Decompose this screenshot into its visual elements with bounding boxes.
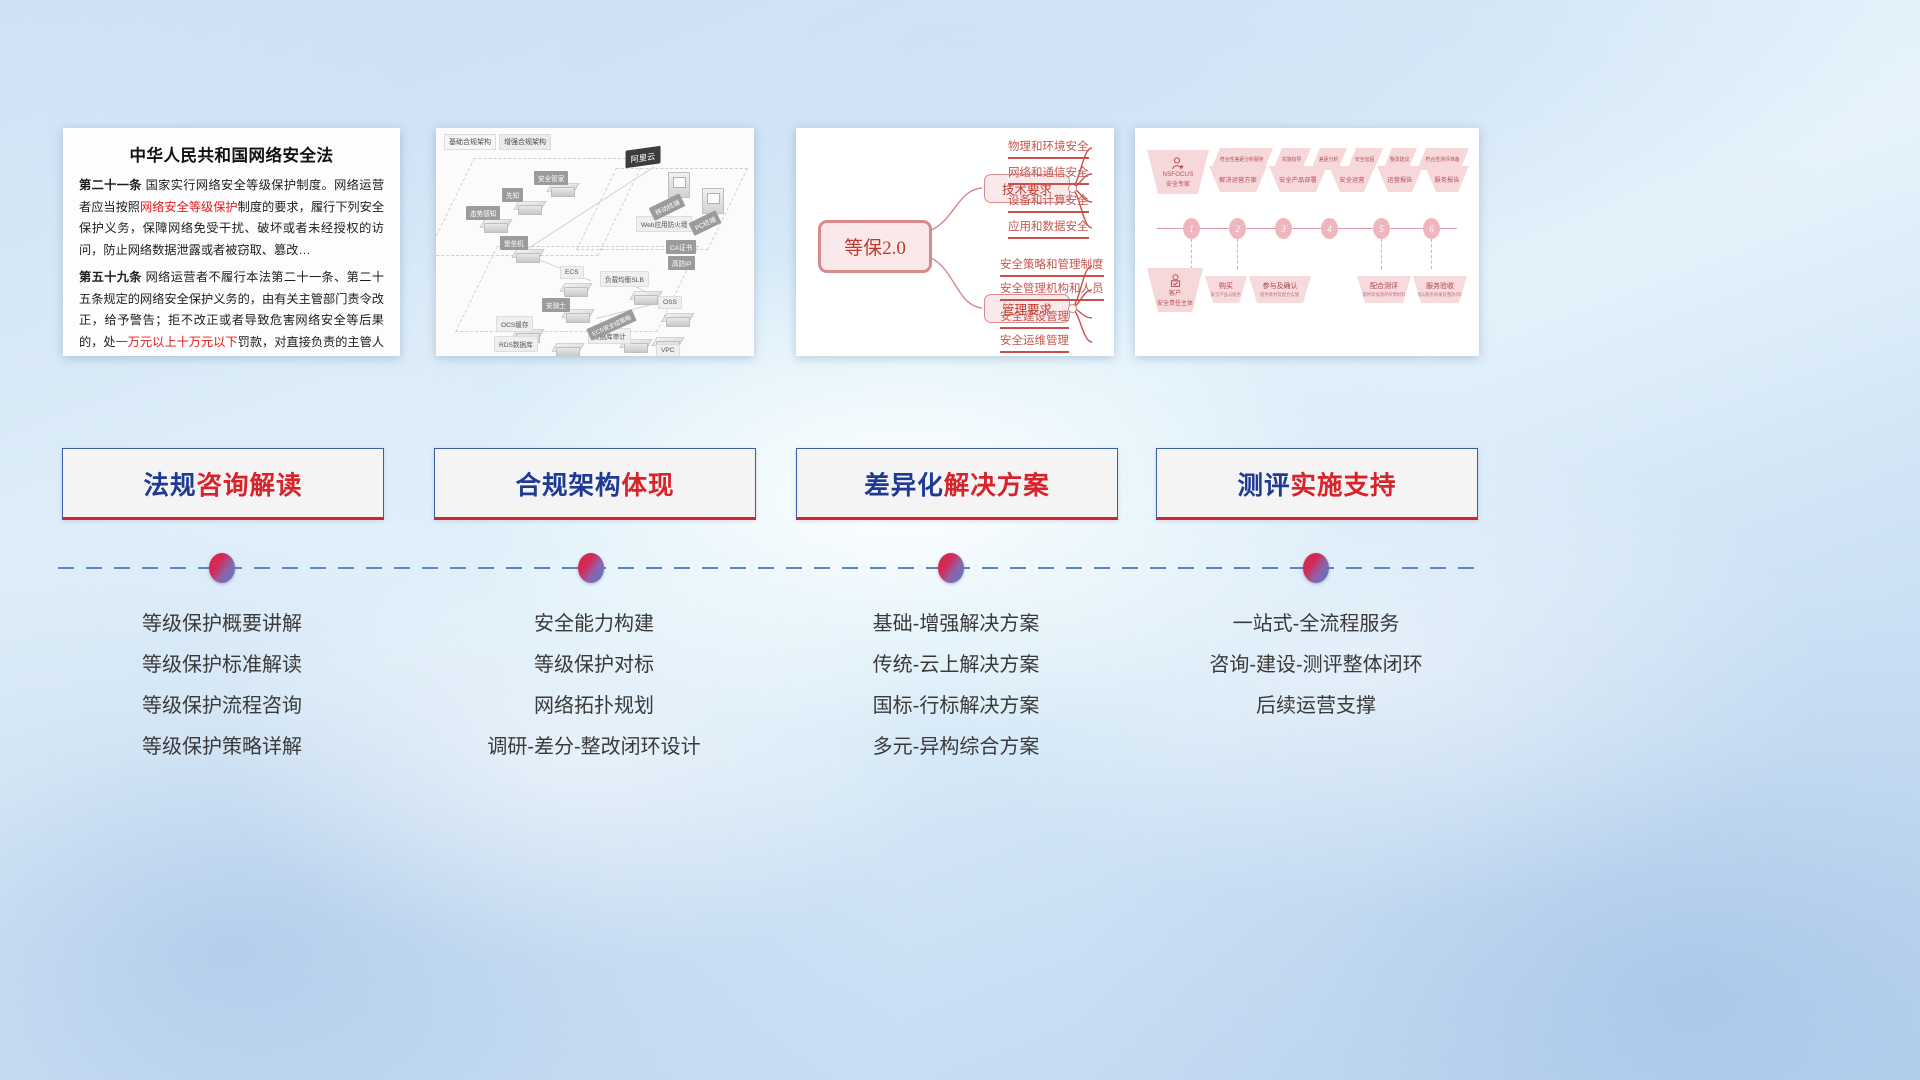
customer-person-icon <box>1169 274 1182 287</box>
arch-label-aliyun: 阿里云 <box>626 146 661 168</box>
nsfocus-connector-6 <box>1431 239 1433 269</box>
bullet-4-2: 咨询-建设-测评整体闭环 <box>1156 655 1476 675</box>
bullet-column-1: 等级保护概要讲解 等级保护标准解读 等级保护流程咨询 等级保护策略详解 <box>62 614 382 778</box>
headline-3-blue: 差异化 <box>864 472 944 500</box>
headline-4-blue: 测评 <box>1237 472 1290 500</box>
nsfocus-bottom-step-1-title: 购买 <box>1219 281 1233 291</box>
arch-node-oss <box>664 310 690 327</box>
nsfocus-chevron-1-label: 解决运营方案 <box>1219 175 1257 184</box>
mindmap-leaf-operation-mgmt: 安全运维管理 <box>1000 332 1069 353</box>
headline-1-text: 法规咨询解读 <box>143 465 302 502</box>
nsfocus-connector-5 <box>1381 239 1383 269</box>
bullet-column-3: 基础-增强解决方案 传统-云上解决方案 国标-行标解决方案 多元-异构综合方案 <box>796 614 1116 778</box>
bullet-3-2: 传统-云上解决方案 <box>796 655 1116 675</box>
nsfocus-chevron-5: 服务报告 <box>1425 166 1469 192</box>
headline-1-red: 咨询解读 <box>197 472 303 500</box>
nsfocus-bottom-step-2: 参与及确认 提供素材及配合实施 <box>1249 276 1311 303</box>
arch-label-ca: CA证书 <box>666 240 696 254</box>
law-article-21-highlight: 网络安全等级保护 <box>140 200 238 214</box>
expert-person-icon <box>1171 157 1185 170</box>
headline-box-2[interactable]: 合规架构体现 <box>434 448 756 520</box>
timeline-dot-2[interactable] <box>578 553 604 583</box>
arch-tabs[interactable]: 基础合规架构 增强合规架构 <box>444 134 551 150</box>
bullet-1-3: 等级保护流程咨询 <box>62 696 382 716</box>
mindmap-leaf-policy-system: 安全策略和管理制度 <box>1000 256 1104 277</box>
mindmap-leaf-network-comm: 网络和通信安全 <box>1008 164 1089 185</box>
headline-box-4[interactable]: 测评实施支持 <box>1156 448 1478 520</box>
nsfocus-chevron-1: 解决运营方案 <box>1209 166 1267 192</box>
headline-box-1[interactable]: 法规咨询解读 <box>62 448 384 520</box>
nsfocus-brand: NSFOCUS <box>1163 171 1194 178</box>
bullet-column-4: 一站式-全流程服务 咨询-建设-测评整体闭环 后续运营支撑 <box>1156 614 1476 737</box>
bullet-3-3: 国标-行标解决方案 <box>796 696 1116 716</box>
arch-label-slb: 负载均衡SLB <box>600 271 649 287</box>
nsfocus-bottom-step-3-sub: 提供等保测评所需材料 <box>1362 291 1405 297</box>
arch-label-anqishi: 安骑士 <box>542 298 570 312</box>
nsfocus-step-node-6: 6 <box>1423 218 1440 239</box>
mindmap-leaf-construction-mgmt: 安全建设管理 <box>1000 308 1069 329</box>
nsfocus-bottom-step-4-sub: 确认服务效果及整改闭环 <box>1416 291 1464 297</box>
nsfocus-connector-2 <box>1237 239 1239 269</box>
nsfocus-top-step-5-label: 整改建议 <box>1390 155 1410 162</box>
nsfocus-bottom-step-1-sub: 安全产品与服务 <box>1211 291 1241 297</box>
headline-4-red: 实施支持 <box>1291 472 1397 500</box>
arch-label-xianzhi: 先知 <box>502 188 523 202</box>
card-nsfocus-service-timeline: NSFOCUS 安全专家 符合性差距分析服务 实施指导 差距分析 安全加固 整改… <box>1135 128 1479 356</box>
headline-1-blue: 法规 <box>143 472 196 500</box>
nsfocus-step-node-3: 3 <box>1275 218 1292 239</box>
bullet-2-3: 网络拓扑规划 <box>434 696 754 716</box>
mindmap-leaf-device-compute: 设备和计算安全 <box>1008 192 1089 213</box>
nsfocus-step-node-2: 2 <box>1229 218 1246 239</box>
arch-label-waf: Web应用防火墙 <box>636 216 692 232</box>
arch-node-slb <box>632 288 658 305</box>
nsfocus-chevron-2-label: 安全产品部署 <box>1279 175 1317 184</box>
nsfocus-step-node-5: 5 <box>1373 218 1390 239</box>
nsfocus-bottom-step-3: 配合测评 提供等保测评所需材料 <box>1357 276 1411 303</box>
nsfocus-chevron-3: 安全运营 <box>1329 166 1375 192</box>
arch-label-situational-awareness: 态势感知 <box>466 206 500 220</box>
bullet-1-2: 等级保护标准解读 <box>62 655 382 675</box>
headline-2-red: 体现 <box>622 472 675 500</box>
headline-2-blue: 合规架构 <box>515 472 621 500</box>
arch-label-gaofang-ip: 高防IP <box>668 256 695 270</box>
law-article-59-label: 第五十九条 <box>79 270 142 284</box>
timeline-dot-4[interactable] <box>1303 553 1329 583</box>
card-mindmap-djcp20: 等保2.0 技术要求 管理要求 物理和环境安全 网络和通信安全 设备和计算安全 … <box>796 128 1114 356</box>
arch-tab-basic[interactable]: 基础合规架构 <box>444 134 496 150</box>
headline-2-text: 合规架构体现 <box>515 465 674 502</box>
arch-label-security-butler: 安全管家 <box>534 171 568 185</box>
law-article-59-highlight-1: 一万元以上十万元以下 <box>116 335 238 349</box>
law-article-21-label: 第二十一条 <box>79 178 142 192</box>
nsfocus-chevron-4-label: 运营报告 <box>1387 175 1412 184</box>
nsfocus-top-step-2-label: 实施指导 <box>1282 155 1302 162</box>
law-article-59: 第五十九条 网络运营者不履行本法第二十一条、第二十五条规定的网络安全保护义务的，… <box>79 267 384 356</box>
nsfocus-bottom-step-2-title: 参与及确认 <box>1263 281 1298 291</box>
nsfocus-chevron-2: 安全产品部署 <box>1269 166 1327 192</box>
arch-label-rds: RDS数据库 <box>494 336 538 352</box>
nsfocus-bottom-step-3-title: 配合测评 <box>1370 281 1398 291</box>
mindmap-collapse-dot-management[interactable] <box>1068 304 1077 313</box>
arch-label-ecs: ECS <box>560 266 584 279</box>
bullet-3-4: 多元-异构综合方案 <box>796 737 1116 757</box>
mindmap-root-node: 等保2.0 <box>818 220 932 273</box>
nsfocus-timeline-line <box>1157 228 1457 229</box>
headline-3-text: 差异化解决方案 <box>864 465 1050 502</box>
nsfocus-role: 安全专家 <box>1166 179 1190 188</box>
law-title: 中华人民共和国网络安全法 <box>79 142 384 166</box>
mindmap-leaf-org-personnel: 安全管理机构和人员 <box>1000 280 1104 301</box>
arch-node-ecs <box>562 280 588 297</box>
nsfocus-top-step-1-label: 符合性差距分析服务 <box>1220 155 1264 162</box>
card-cloud-architecture: 基础合规架构 增强合规架构 阿里云 安全管家 先知 态势感知 堡垒机 ECS 安… <box>436 128 754 356</box>
nsfocus-expert-chevron: NSFOCUS 安全专家 <box>1147 150 1209 194</box>
mindmap-leaf-app-data: 应用和数据安全 <box>1008 218 1089 239</box>
bullet-1-1: 等级保护概要讲解 <box>62 614 382 634</box>
card-cybersecurity-law: 中华人民共和国网络安全法 第二十一条 国家实行网络安全等级保护制度。网络运营者应… <box>63 128 400 356</box>
headline-box-3[interactable]: 差异化解决方案 <box>796 448 1118 520</box>
bullet-2-2: 等级保护对标 <box>434 655 754 675</box>
headline-4-text: 测评实施支持 <box>1237 465 1396 502</box>
bullet-column-2: 安全能力构建 等级保护对标 网络拓扑规划 调研-差分-整改闭环设计 <box>434 614 754 778</box>
nsfocus-customer-chevron: 客户 安全责任主体 <box>1147 268 1203 312</box>
arch-label-bastion: 堡垒机 <box>500 236 528 250</box>
nsfocus-bottom-step-4-title: 服务验收 <box>1426 281 1454 291</box>
nsfocus-chevron-3-label: 安全运营 <box>1339 175 1364 184</box>
mindmap-leaf-physical-env: 物理和环境安全 <box>1008 138 1089 159</box>
nsfocus-chevron-4: 运营报告 <box>1377 166 1423 192</box>
nsfocus-bottom-step-1: 购买 安全产品与服务 <box>1205 276 1247 303</box>
timeline-dashed-line <box>58 567 1476 569</box>
arch-label-oss: OSS <box>658 296 682 309</box>
arch-label-ocs: OCS缓存 <box>496 316 533 332</box>
nsfocus-top-step-6-label: 符合性测评准备 <box>1426 155 1460 162</box>
timeline-dot-3[interactable] <box>938 553 964 583</box>
bullet-2-4: 调研-差分-整改闭环设计 <box>434 737 754 757</box>
arch-label-vpc: VPC <box>656 344 680 356</box>
bullet-3-1: 基础-增强解决方案 <box>796 614 1116 634</box>
bullet-4-3: 后续运营支撑 <box>1156 696 1476 716</box>
nsfocus-bottom-step-2-sub: 提供素材及配合实施 <box>1261 291 1300 297</box>
nsfocus-connector-1 <box>1191 239 1193 269</box>
nsfocus-step-node-1: 1 <box>1183 218 1200 239</box>
headline-3-red: 解决方案 <box>944 472 1050 500</box>
nsfocus-step-node-4: 4 <box>1321 218 1338 239</box>
nsfocus-customer-label: 客户 <box>1169 288 1182 297</box>
nsfocus-top-step-4-label: 安全加固 <box>1355 155 1375 162</box>
arch-node-rds <box>554 340 580 356</box>
bullet-2-1: 安全能力构建 <box>434 614 754 634</box>
arch-tab-enhanced[interactable]: 增强合规架构 <box>499 134 551 150</box>
nsfocus-chevron-5-label: 服务报告 <box>1434 175 1459 184</box>
bullet-4-1: 一站式-全流程服务 <box>1156 614 1476 634</box>
bullet-1-4: 等级保护策略详解 <box>62 737 382 757</box>
nsfocus-top-step-3-label: 差距分析 <box>1319 155 1339 162</box>
nsfocus-customer-sub: 安全责任主体 <box>1157 298 1193 307</box>
timeline-dot-1[interactable] <box>209 553 235 583</box>
nsfocus-bottom-step-4: 服务验收 确认服务效果及整改闭环 <box>1413 276 1467 303</box>
law-article-21: 第二十一条 国家实行网络安全等级保护制度。网络运营者应当按照网络安全等级保护制度… <box>79 175 384 262</box>
